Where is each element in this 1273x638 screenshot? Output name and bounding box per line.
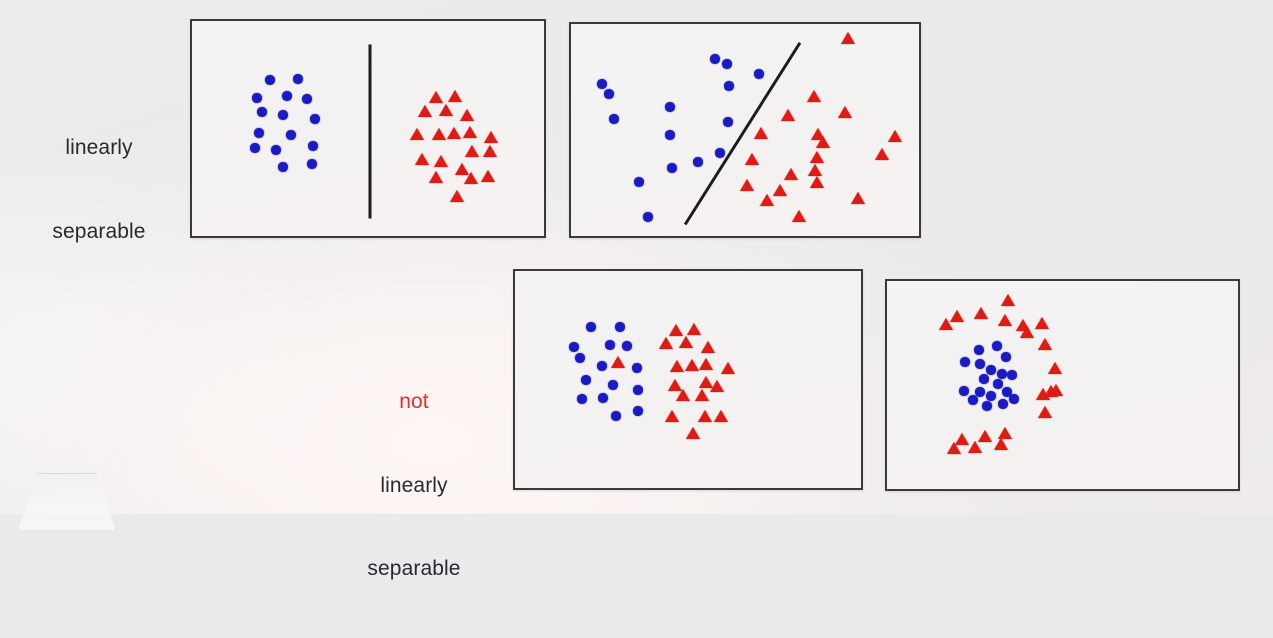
scatter-panel-2 — [569, 22, 921, 238]
label-line-1: linearly — [24, 134, 174, 162]
data-point-circle — [982, 401, 991, 410]
data-point-triangle — [463, 126, 477, 138]
data-point-triangle — [434, 155, 448, 167]
data-point-circle — [992, 341, 1001, 350]
data-point-triangle — [686, 427, 700, 439]
data-point-circle — [302, 94, 311, 103]
data-point-circle — [667, 163, 676, 172]
data-point-circle — [586, 322, 595, 331]
data-point-circle — [1009, 394, 1018, 403]
data-point-circle — [609, 114, 618, 123]
data-point-triangle — [669, 324, 683, 336]
data-point-triangle — [784, 168, 798, 180]
data-point-triangle — [773, 184, 787, 196]
label-line-2: separable — [24, 218, 174, 246]
data-point-circle — [1007, 370, 1016, 379]
label-line-2: separable — [336, 555, 492, 583]
data-point-triangle — [978, 430, 992, 442]
data-point-circle — [282, 91, 291, 100]
data-point-circle — [643, 212, 652, 221]
data-point-triangle — [998, 427, 1012, 439]
data-point-circle — [1001, 352, 1010, 361]
data-point-triangle — [754, 127, 768, 139]
scatter-panel-3 — [513, 269, 863, 490]
data-point-triangle — [481, 170, 495, 182]
data-point-circle — [252, 93, 261, 102]
data-point-triangle — [464, 172, 478, 184]
data-point-triangle — [888, 130, 902, 142]
data-point-circle — [960, 357, 969, 366]
data-point-triangle — [745, 153, 759, 165]
data-point-triangle — [760, 194, 774, 206]
data-point-triangle — [670, 360, 684, 372]
data-point-circle — [577, 394, 586, 403]
data-point-circle — [307, 159, 316, 168]
data-point-triangle — [1044, 385, 1058, 397]
data-point-triangle — [710, 380, 724, 392]
corner-ghost-widget — [18, 473, 116, 530]
data-point-triangle — [687, 323, 701, 335]
data-point-circle — [693, 157, 702, 166]
data-point-circle — [722, 59, 731, 68]
data-point-triangle — [429, 91, 443, 103]
data-point-circle — [254, 128, 263, 137]
data-point-triangle — [808, 164, 822, 176]
data-point-triangle — [659, 337, 673, 349]
data-point-circle — [271, 145, 280, 154]
data-point-triangle — [699, 376, 713, 388]
data-point-circle — [308, 141, 317, 150]
data-point-triangle — [676, 389, 690, 401]
data-point-triangle — [810, 151, 824, 163]
data-point-triangle — [484, 131, 498, 143]
data-point-triangle — [1049, 384, 1063, 396]
data-point-triangle — [611, 356, 625, 368]
data-point-triangle — [415, 153, 429, 165]
data-point-circle — [633, 385, 642, 394]
label-not-linearly-separable: not linearly separable — [336, 333, 492, 638]
data-point-triangle — [1016, 319, 1030, 331]
data-point-triangle — [439, 104, 453, 116]
data-point-triangle — [851, 192, 865, 204]
scatter-panel-1 — [190, 19, 546, 238]
data-point-circle — [632, 363, 641, 372]
data-point-triangle — [875, 148, 889, 160]
data-point-circle — [597, 361, 606, 370]
data-point-triangle — [781, 109, 795, 121]
data-point-triangle — [432, 128, 446, 140]
data-point-circle — [979, 374, 988, 383]
data-point-circle — [597, 79, 606, 88]
data-point-circle — [634, 177, 643, 186]
slide-canvas: linearly separable not linearly separabl… — [0, 0, 1273, 514]
data-point-circle — [665, 130, 674, 139]
data-point-circle — [1002, 387, 1011, 396]
data-point-circle — [959, 386, 968, 395]
data-point-circle — [724, 81, 733, 90]
data-point-triangle — [1035, 317, 1049, 329]
data-point-triangle — [450, 190, 464, 202]
data-point-circle — [265, 75, 274, 84]
data-point-triangle — [968, 441, 982, 453]
data-point-triangle — [679, 336, 693, 348]
data-point-triangle — [810, 176, 824, 188]
data-point-triangle — [418, 105, 432, 117]
data-point-triangle — [668, 379, 682, 391]
data-point-triangle — [947, 442, 961, 454]
data-point-circle — [993, 379, 1002, 388]
label-line-1: linearly — [336, 472, 492, 500]
data-point-circle — [986, 365, 995, 374]
data-point-triangle — [460, 109, 474, 121]
data-point-triangle — [994, 438, 1008, 450]
data-point-triangle — [939, 318, 953, 330]
data-point-triangle — [429, 171, 443, 183]
data-point-triangle — [465, 145, 479, 157]
data-point-circle — [286, 130, 295, 139]
label-emphasis-not: not — [336, 388, 492, 416]
data-point-circle — [715, 148, 724, 157]
data-point-circle — [569, 342, 578, 351]
data-point-circle — [278, 110, 287, 119]
data-point-circle — [598, 393, 607, 402]
data-point-triangle — [811, 128, 825, 140]
data-point-circle — [665, 102, 674, 111]
data-point-triangle — [699, 358, 713, 370]
data-point-triangle — [841, 32, 855, 44]
decision-boundary-line — [684, 41, 802, 225]
data-point-circle — [997, 369, 1006, 378]
data-point-circle — [723, 117, 732, 126]
data-point-circle — [998, 399, 1007, 408]
data-point-triangle — [1038, 338, 1052, 350]
data-point-circle — [575, 353, 584, 362]
data-point-triangle — [448, 90, 462, 102]
data-point-circle — [622, 341, 631, 350]
data-point-triangle — [1001, 294, 1015, 306]
data-point-triangle — [1036, 388, 1050, 400]
data-point-circle — [975, 387, 984, 396]
data-point-triangle — [721, 362, 735, 374]
data-point-circle — [615, 322, 624, 331]
data-point-triangle — [410, 128, 424, 140]
data-point-circle — [250, 143, 259, 152]
data-point-circle — [604, 89, 613, 98]
data-point-triangle — [695, 389, 709, 401]
data-point-triangle — [1048, 362, 1062, 374]
data-point-triangle — [792, 210, 806, 222]
data-point-circle — [710, 54, 719, 63]
data-point-triangle — [807, 90, 821, 102]
data-point-triangle — [698, 410, 712, 422]
data-point-triangle — [1020, 326, 1034, 338]
data-point-circle — [608, 380, 617, 389]
data-point-circle — [754, 69, 763, 78]
data-point-triangle — [950, 310, 964, 322]
data-point-triangle — [685, 359, 699, 371]
data-point-circle — [605, 340, 614, 349]
data-point-triangle — [1038, 406, 1052, 418]
data-point-circle — [968, 395, 977, 404]
data-point-circle — [633, 406, 642, 415]
data-point-triangle — [483, 145, 497, 157]
data-point-triangle — [955, 433, 969, 445]
data-point-circle — [986, 391, 995, 400]
data-point-triangle — [714, 410, 728, 422]
data-point-circle — [293, 74, 302, 83]
decision-boundary-line — [369, 44, 372, 218]
data-point-circle — [581, 375, 590, 384]
data-point-circle — [611, 411, 620, 420]
data-point-triangle — [974, 307, 988, 319]
data-point-triangle — [455, 163, 469, 175]
data-point-triangle — [701, 341, 715, 353]
data-point-triangle — [740, 179, 754, 191]
data-point-triangle — [816, 136, 830, 148]
data-point-triangle — [665, 410, 679, 422]
data-point-triangle — [838, 106, 852, 118]
scatter-panel-4 — [885, 279, 1240, 491]
data-point-triangle — [447, 127, 461, 139]
data-point-circle — [974, 345, 983, 354]
data-point-circle — [310, 114, 319, 123]
data-point-circle — [278, 162, 287, 171]
label-linearly-separable: linearly separable — [24, 79, 174, 301]
data-point-triangle — [998, 314, 1012, 326]
data-point-circle — [975, 359, 984, 368]
data-point-circle — [257, 107, 266, 116]
